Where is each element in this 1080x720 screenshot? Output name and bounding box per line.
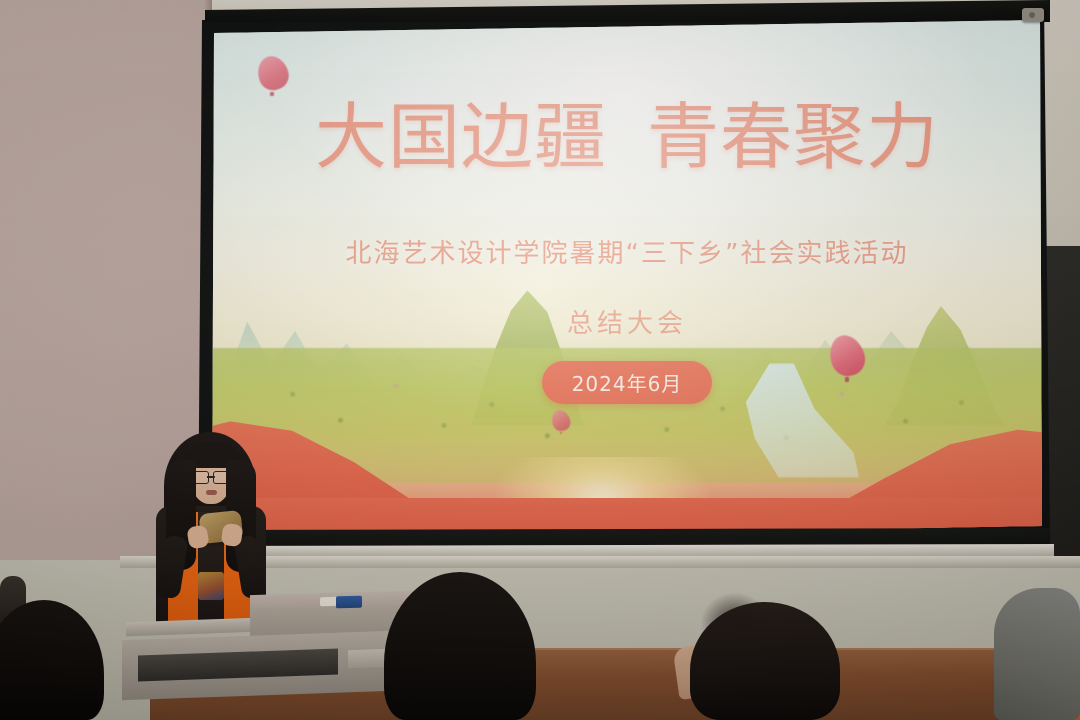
audience-person-right	[994, 588, 1080, 720]
audience-hair-wisp	[700, 592, 770, 632]
slide-section-heading: 总结大会	[212, 303, 1042, 340]
presentation-slide: 大国边疆青春聚力 北海艺术设计学院暑期“三下乡”社会实践活动 总结大会 2024…	[212, 20, 1042, 540]
date-badge: 2024年6月	[542, 361, 713, 404]
slide-title: 大国边疆青春聚力	[212, 101, 1042, 173]
hot-air-balloon-icon	[552, 410, 570, 436]
photo-scene: 大国边疆青春聚力 北海艺术设计学院暑期“三下乡”社会实践活动 总结大会 2024…	[0, 0, 1080, 720]
slide-title-part1: 大国边疆	[315, 95, 607, 179]
hot-air-balloon-icon	[258, 56, 288, 98]
projection-screen-surface[interactable]: 大国边疆青春聚力 北海艺术设计学院暑期“三下乡”社会实践活动 总结大会 2024…	[212, 20, 1042, 540]
presenter-mouth	[206, 490, 217, 495]
slide-date-container: 2024年6月	[212, 361, 1042, 404]
projection-screen-weight-rail	[196, 544, 1054, 556]
glasses-icon	[191, 471, 231, 482]
slide-title-part2: 青春聚力	[647, 95, 939, 179]
audience-head	[384, 572, 536, 720]
presenter-shirt-print	[198, 572, 224, 600]
screen-mount-screw	[1029, 12, 1035, 18]
marker-box-blue	[336, 596, 362, 609]
slide-subtitle: 北海艺术设计学院暑期“三下乡”社会实践活动	[212, 233, 1042, 270]
audience-head	[0, 600, 104, 720]
